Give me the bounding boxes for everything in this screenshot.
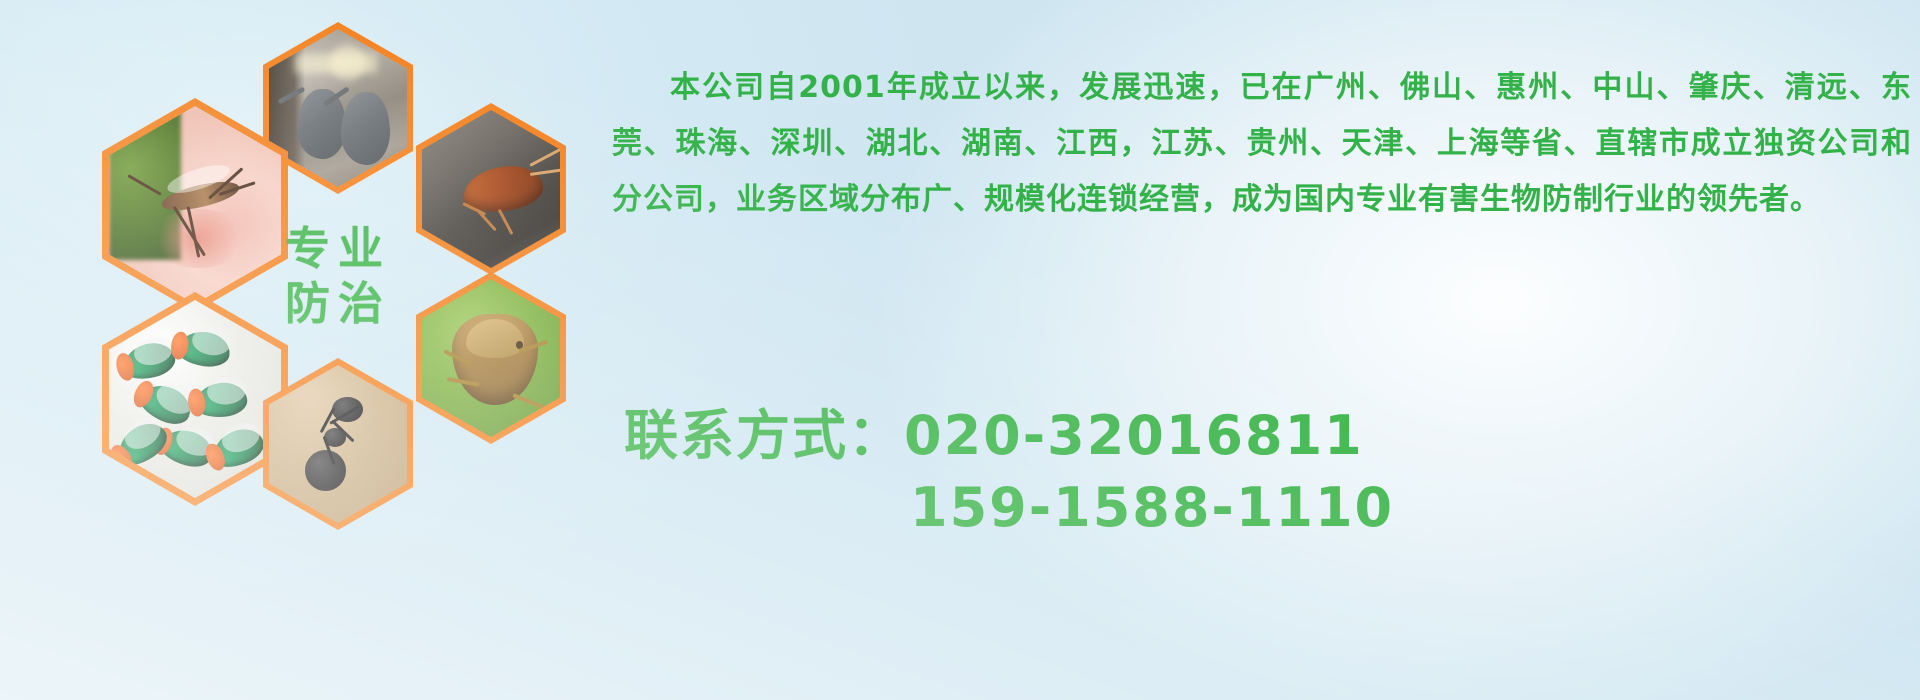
hex-cell-cockroach[interactable] [416,103,566,275]
rodent-control-photo [269,29,407,187]
slogan-text: 专业 防治 [285,220,391,332]
contact-line-secondary[interactable]: 159-1588-1110 [624,472,1904,544]
honeycomb-gallery: 专业 防治 [80,0,600,580]
contact-block: 联系方式：020-32016811 159-1588-1110 [624,400,1904,544]
promo-banner: 专业 防治 [0,0,1920,700]
hex-cell-stink-bug[interactable] [416,272,566,444]
cockroach-photo [422,110,560,268]
stink-bug-photo [422,279,560,437]
slogan-line-1: 专业 [285,222,391,275]
mosquito-photo [109,106,281,304]
company-intro-paragraph: 本公司自2001年成立以来，发展迅速，已在广州、佛山、惠州、中山、肇庆、清远、东… [612,60,1912,228]
ant-photo [269,365,407,523]
contact-line-primary[interactable]: 联系方式：020-32016811 [624,400,1904,472]
fly-photo [109,300,281,498]
slogan-line-2: 防治 [285,277,391,330]
hex-cell-mosquito[interactable] [102,98,288,312]
hex-cell-fly[interactable] [102,292,288,506]
